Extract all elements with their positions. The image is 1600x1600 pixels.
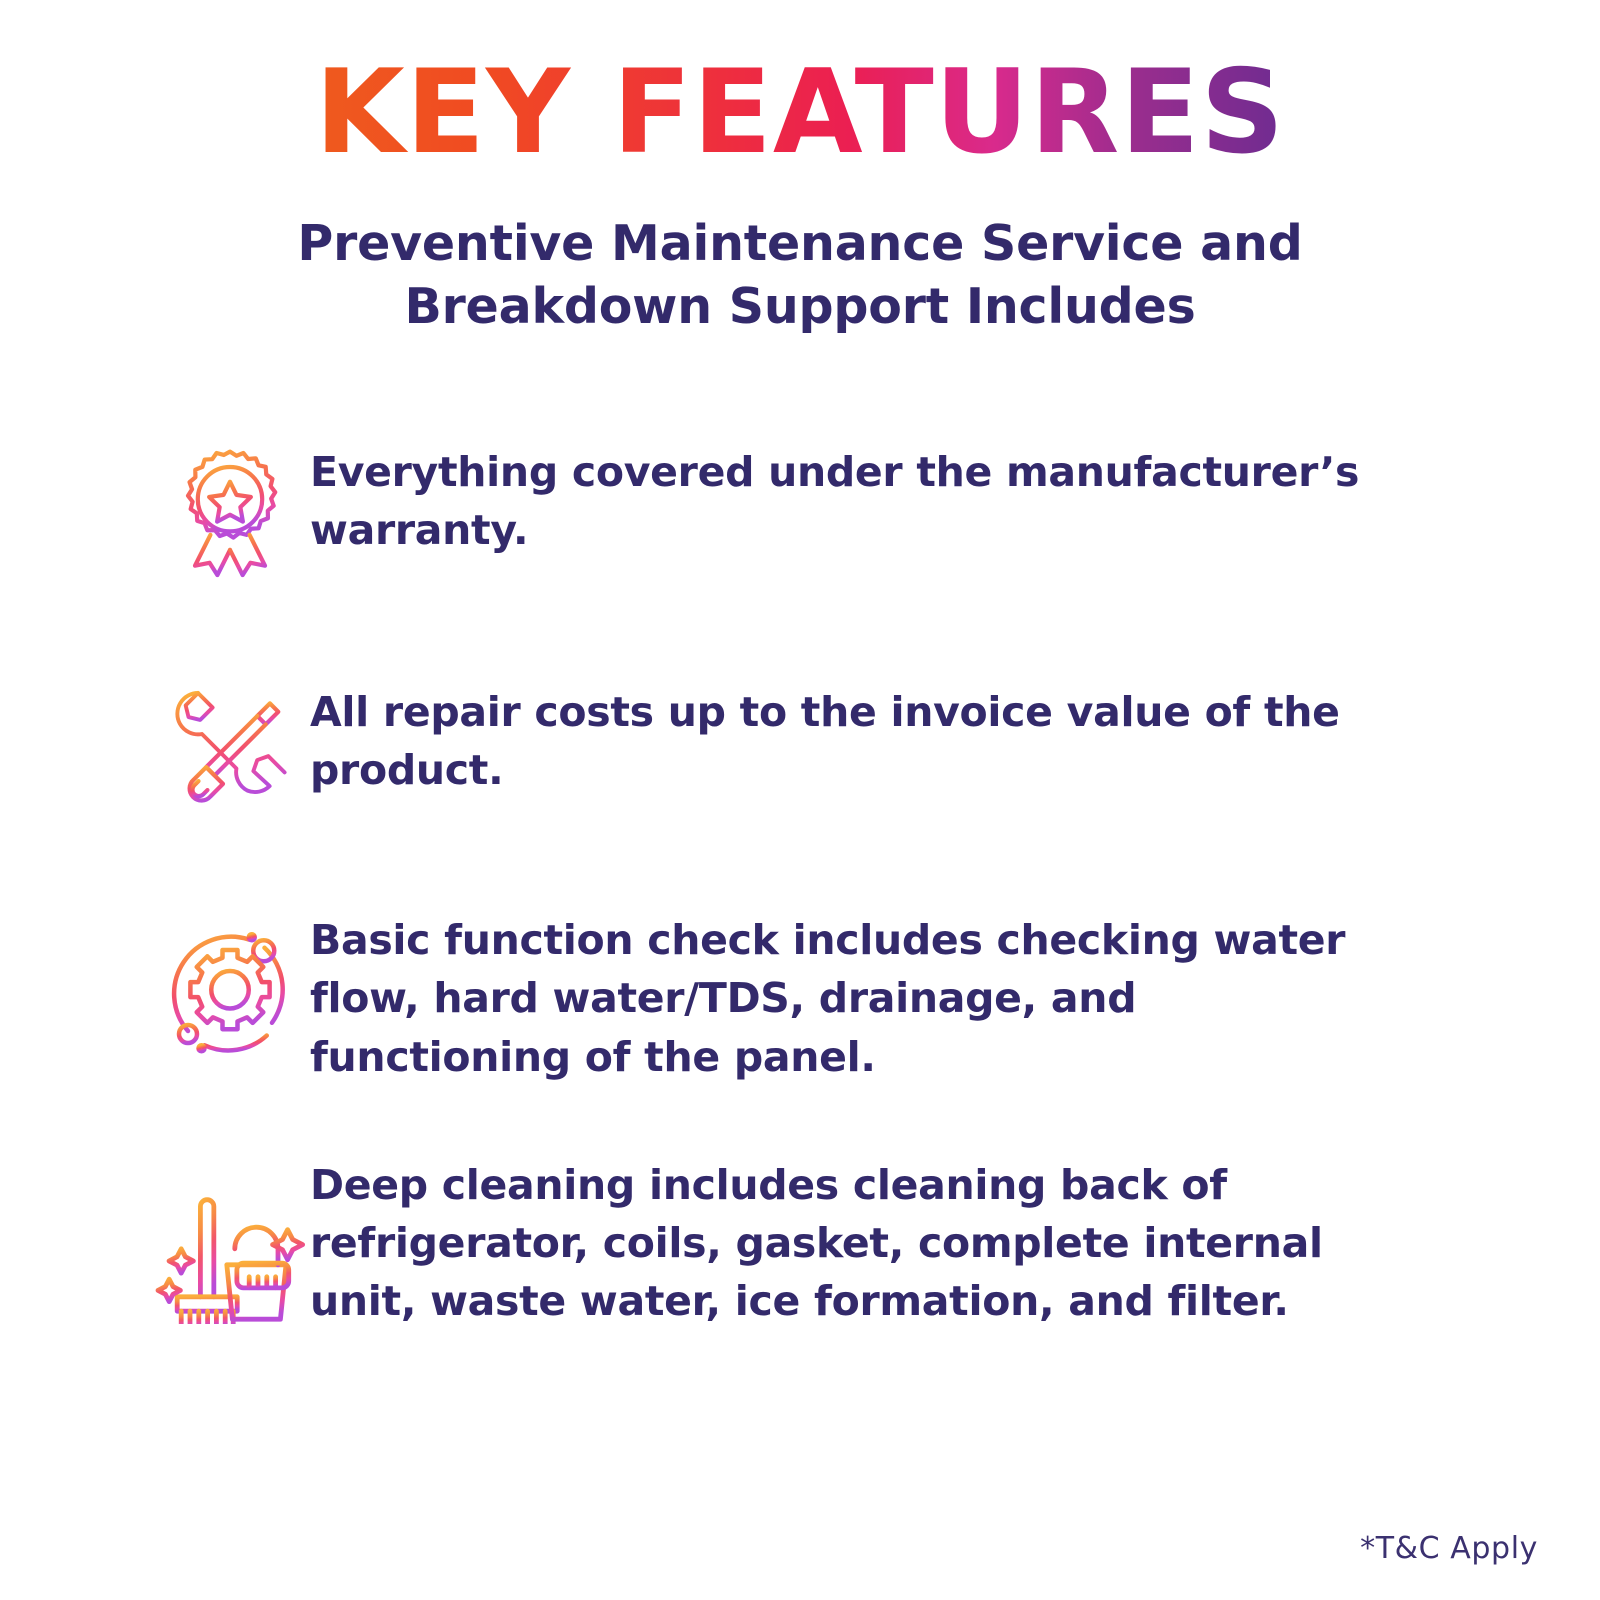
broom-bucket-cleaning-icon [150,1144,310,1324]
feature-text: Basic function check includes checking w… [310,899,1370,1086]
key-features-page: KEY FEATURES Preventive Maintenance Serv… [0,0,1600,1600]
page-title: KEY FEATURES [315,52,1285,174]
feature-text: All repair costs up to the invoice value… [310,671,1370,799]
award-badge-icon [150,431,310,579]
page-subtitle: Preventive Maintenance Service and Break… [170,212,1430,339]
feature-text: Everything covered under the manufacture… [310,431,1370,559]
header: KEY FEATURES Preventive Maintenance Serv… [0,0,1600,339]
feature-item: All repair costs up to the invoice value… [150,671,1480,821]
gear-settings-icon [150,899,310,1067]
feature-item: Deep cleaning includes cleaning back of … [150,1144,1480,1331]
feature-item: Everything covered under the manufacture… [150,431,1480,579]
feature-item: Basic function check includes checking w… [150,899,1480,1086]
feature-list: Everything covered under the manufacture… [0,431,1600,1330]
wrench-screwdriver-icon [150,671,310,821]
terms-and-conditions-note: *T&C Apply [1360,1531,1538,1566]
feature-text: Deep cleaning includes cleaning back of … [310,1144,1370,1331]
